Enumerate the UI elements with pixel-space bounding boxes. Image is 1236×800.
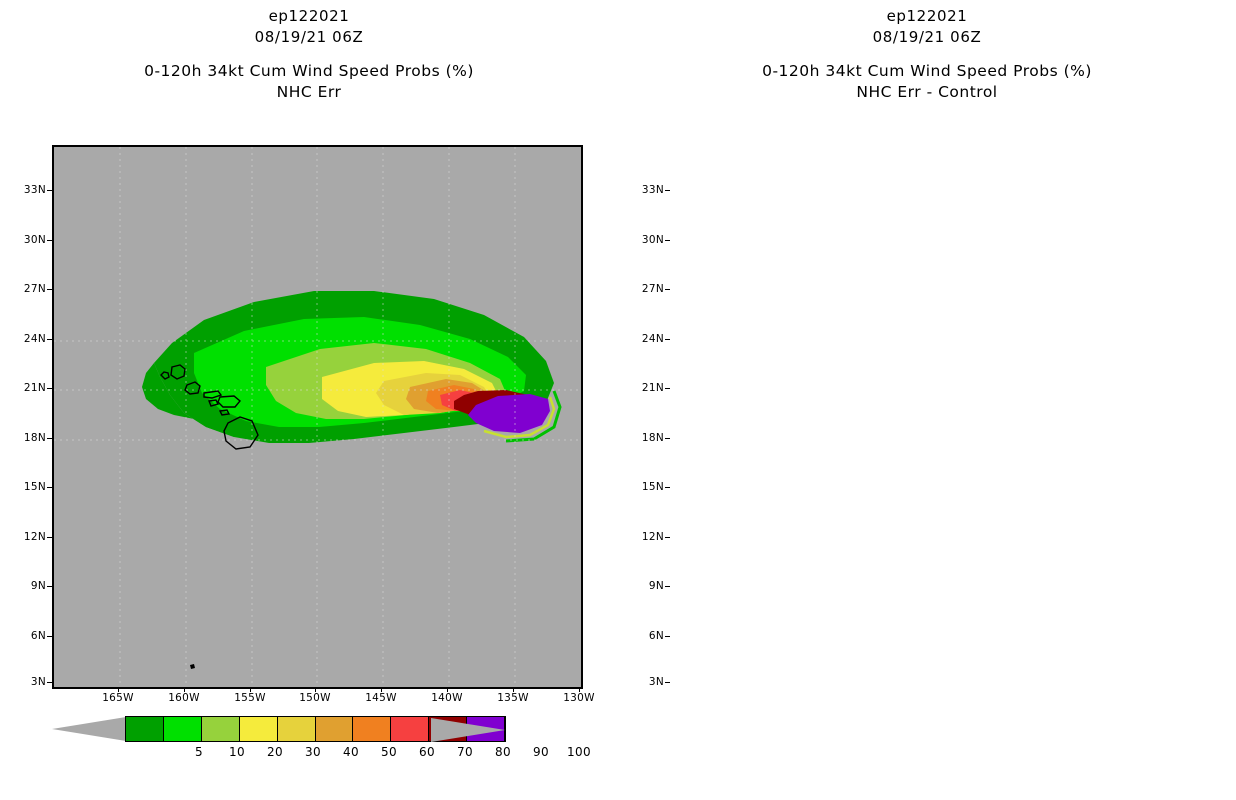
cblabel-70: 70: [445, 745, 485, 759]
r-ytick-9N: 9N: [624, 580, 664, 592]
ytick-30N: 30N: [6, 234, 46, 246]
colorbar-band-20-30[interactable]: [202, 717, 240, 741]
panel-nhc-err: ep122021 08/19/21 06Z 0-120h 34kt Cum Wi…: [0, 0, 618, 800]
colorbar-track[interactable]: 5 10 20 30 40 50 60 70 80 90 100: [125, 716, 506, 742]
right-panel-titles: ep122021 08/19/21 06Z 0-120h 34kt Cum Wi…: [618, 6, 1236, 103]
xtick-135W: 135W: [491, 692, 535, 704]
r-ytickmark-21N: [665, 388, 670, 389]
left-datetime: 08/19/21 06Z: [0, 27, 618, 48]
ytick-3N: 3N: [6, 676, 46, 688]
ytick-15N: 15N: [6, 481, 46, 493]
colorbar-band-70-80[interactable]: [391, 717, 429, 741]
cblabel-50: 50: [369, 745, 409, 759]
r-ytickmark-12N: [665, 537, 670, 538]
colorbar-band-50-60[interactable]: [316, 717, 354, 741]
r-ytickmark-33N: [665, 190, 670, 191]
r-ytick-30N: 30N: [624, 234, 664, 246]
atoll-marker: [190, 664, 195, 669]
left-map-canvas: [54, 147, 581, 687]
left-colorbar[interactable]: 5 10 20 30 40 50 60 70 80 90 100: [52, 716, 579, 742]
ytick-24N: 24N: [6, 333, 46, 345]
cblabel-80: 80: [483, 745, 523, 759]
left-product-title: 0-120h 34kt Cum Wind Speed Probs (%): [0, 61, 618, 82]
right-datetime: 08/19/21 06Z: [618, 27, 1236, 48]
r-ytick-24N: 24N: [624, 333, 664, 345]
colorbar-low-cap: [52, 716, 126, 742]
ytick-21N: 21N: [6, 382, 46, 394]
r-ytickmark-18N: [665, 438, 670, 439]
r-ytick-21N: 21N: [624, 382, 664, 394]
colorbar-band-30-40[interactable]: [240, 717, 278, 741]
r-ytickmark-3N: [665, 682, 670, 683]
cblabel-10: 10: [217, 745, 257, 759]
cblabel-60: 60: [407, 745, 447, 759]
ytick-18N: 18N: [6, 432, 46, 444]
left-storm-id: ep122021: [0, 6, 618, 27]
xtick-130W: 130W: [557, 692, 601, 704]
r-ytickmark-15N: [665, 487, 670, 488]
xtick-165W: 165W: [96, 692, 140, 704]
colorbar-band-10-20[interactable]: [164, 717, 202, 741]
xtick-155W: 155W: [228, 692, 272, 704]
colorbar-band-40-50[interactable]: [278, 717, 316, 741]
r-ytick-18N: 18N: [624, 432, 664, 444]
wind-speed-probability-figure: ep122021 08/19/21 06Z 0-120h 34kt Cum Wi…: [0, 0, 1236, 800]
left-map-svg: [54, 147, 581, 687]
cblabel-100: 100: [559, 745, 599, 759]
ytick-9N: 9N: [6, 580, 46, 592]
r-ytick-12N: 12N: [624, 531, 664, 543]
r-ytickmark-24N: [665, 339, 670, 340]
left-panel-titles: ep122021 08/19/21 06Z 0-120h 34kt Cum Wi…: [0, 6, 618, 103]
colorbar-band-60-70[interactable]: [353, 717, 391, 741]
xtick-160W: 160W: [162, 692, 206, 704]
left-colorbar-labels: 5 10 20 30 40 50 60 70 80 90 100: [126, 745, 653, 761]
r-ytick-6N: 6N: [624, 630, 664, 642]
ytick-6N: 6N: [6, 630, 46, 642]
xtick-140W: 140W: [425, 692, 469, 704]
ytick-33N: 33N: [6, 184, 46, 196]
xtick-145W: 145W: [359, 692, 403, 704]
cblabel-30: 30: [293, 745, 333, 759]
r-ytick-15N: 15N: [624, 481, 664, 493]
r-ytickmark-9N: [665, 586, 670, 587]
right-product-title: 0-120h 34kt Cum Wind Speed Probs (%): [618, 61, 1236, 82]
panel-nhc-err-minus-control: ep122021 08/19/21 06Z 0-120h 34kt Cum Wi…: [618, 0, 1236, 800]
r-ytickmark-6N: [665, 636, 670, 637]
cblabel-5: 5: [179, 745, 219, 759]
r-ytick-3N: 3N: [624, 676, 664, 688]
colorbar-high-cap: [431, 717, 505, 743]
cblabel-20: 20: [255, 745, 295, 759]
right-subtitle: NHC Err - Control: [618, 82, 1236, 103]
xtick-150W: 150W: [293, 692, 337, 704]
cblabel-90: 90: [521, 745, 561, 759]
colorbar-band-5-10[interactable]: [126, 717, 164, 741]
left-map-plot[interactable]: [52, 145, 583, 689]
r-ytickmark-30N: [665, 240, 670, 241]
r-ytick-27N: 27N: [624, 283, 664, 295]
cblabel-40: 40: [331, 745, 371, 759]
left-subtitle: NHC Err: [0, 82, 618, 103]
ytick-12N: 12N: [6, 531, 46, 543]
r-ytick-33N: 33N: [624, 184, 664, 196]
right-storm-id: ep122021: [618, 6, 1236, 27]
r-ytickmark-27N: [665, 289, 670, 290]
ytick-27N: 27N: [6, 283, 46, 295]
